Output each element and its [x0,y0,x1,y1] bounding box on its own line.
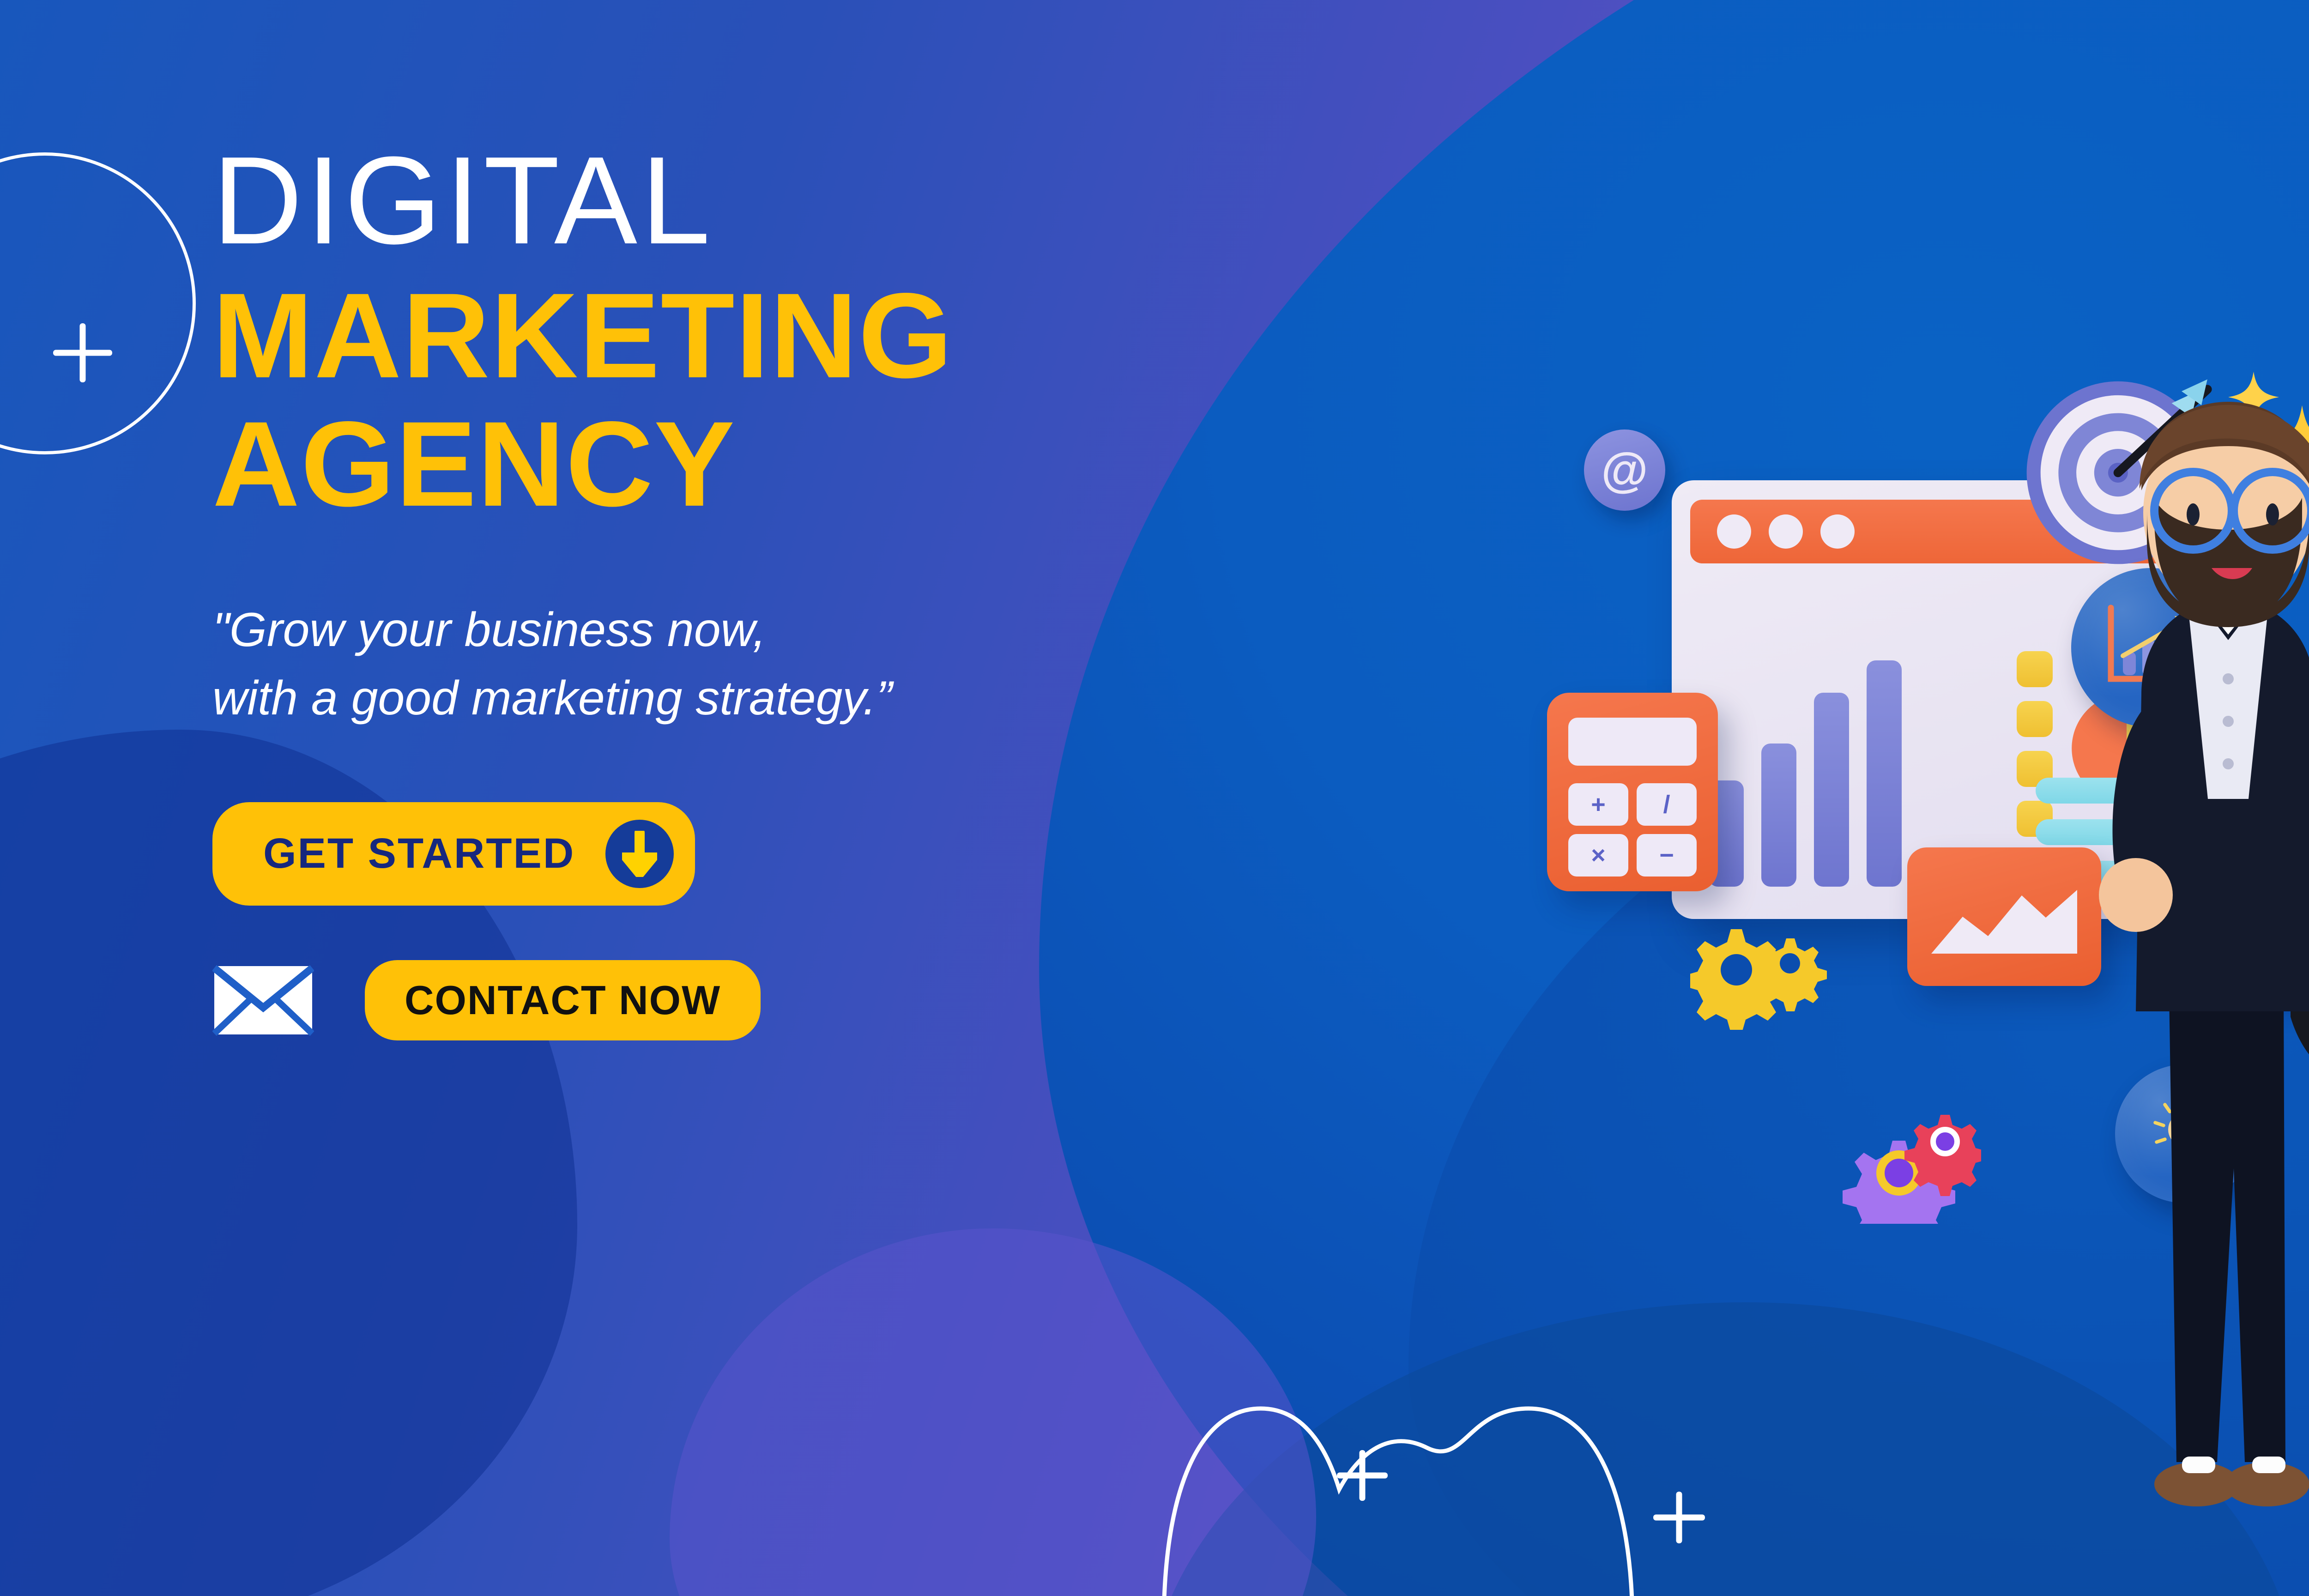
tagline-line2: with a good marketing strategy.” [212,665,1367,733]
hero-copy: DIGITAL MARKETING AGENCY "Grow your busi… [212,139,1367,1040]
plus-icon [1337,1450,1388,1501]
presenter-left [2053,402,2309,1570]
plus-icon [53,323,112,382]
gears-yellow-icon [1690,924,1829,1030]
tagline: "Grow your business now, with a good mar… [212,596,1367,732]
contact-now-button[interactable]: CONTACT NOW [365,960,761,1040]
at-sign-icon: @ [1584,429,1665,511]
calculator-key: − [1637,834,1697,877]
window-dot-icon [1717,514,1751,549]
window-dot-icon [1769,514,1803,549]
browser-bar-chart [1709,660,1902,887]
calculator-screen [1568,718,1697,766]
calculator-icon: + / × − [1547,693,1718,891]
gears-purple-red-icon [1843,1104,1981,1224]
contact-row: CONTACT NOW [212,960,1367,1040]
page-title-line3: AGENCY [212,400,1367,528]
calculator-key: / [1637,783,1697,826]
window-dot-icon [1820,514,1855,549]
arrow-down-icon [605,820,674,888]
digital-marketing-3d-scene: @ [1492,286,2309,1579]
get-started-label: GET STARTED [263,829,575,878]
tagline-line1: "Grow your business now, [212,596,1367,665]
page-title-line2: MARKETING [212,272,1367,400]
calculator-keys: + / × − [1568,783,1697,877]
get-started-button[interactable]: GET STARTED [212,802,695,906]
cta-row: GET STARTED [212,802,1367,906]
page-title-line1: DIGITAL [212,139,1367,263]
calculator-key: × [1568,834,1628,877]
envelope-icon[interactable] [212,963,314,1037]
marketing-banner: DIGITAL MARKETING AGENCY "Grow your busi… [0,0,2309,1596]
calculator-key: + [1568,783,1628,826]
circle-outline-decor [0,152,196,454]
